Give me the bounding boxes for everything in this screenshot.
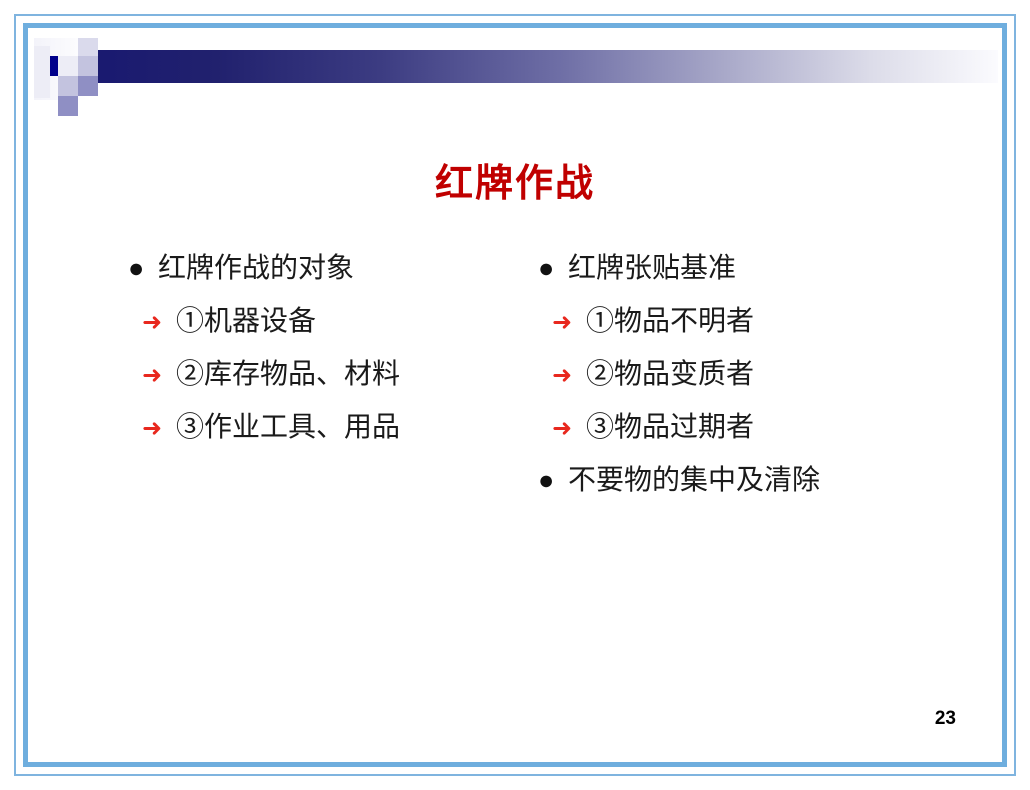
square-mid-b-icon	[58, 96, 78, 116]
square-light-c-icon	[58, 76, 78, 96]
red-arrow-icon: ➜	[538, 363, 584, 387]
header-gradient-band	[90, 50, 998, 83]
bullet-text: 不要物的集中及清除	[568, 458, 820, 498]
bullet-text: ①机器设备	[174, 299, 316, 339]
bullet-text: ①物品不明者	[584, 299, 754, 339]
disc-bullet-icon: ●	[538, 467, 568, 494]
page-number: 23	[935, 708, 956, 730]
red-arrow-icon: ➜	[538, 416, 584, 440]
bullet-column-right: ●红牌张贴基准➜①物品不明者➜②物品变质者➜③物品过期者●不要物的集中及清除	[538, 246, 968, 511]
bullet-text: ②物品变质者	[584, 352, 754, 392]
slide-canvas: 红牌作战 ●红牌作战的对象➜①机器设备➜②库存物品、材料➜③作业工具、用品 ●红…	[28, 28, 1002, 762]
bullet-row: ➜②库存物品、材料	[128, 352, 528, 405]
square-light-a-icon	[78, 56, 98, 76]
bullet-row: ➜③物品过期者	[538, 405, 968, 458]
red-arrow-icon: ➜	[538, 310, 584, 334]
square-mid-a-icon	[78, 76, 98, 96]
bullet-text: ③作业工具、用品	[174, 405, 400, 445]
bullet-row: ➜②物品变质者	[538, 352, 968, 405]
bullet-text: ②库存物品、材料	[174, 352, 400, 392]
bullet-row: ●不要物的集中及清除	[538, 458, 968, 511]
red-arrow-icon: ➜	[128, 363, 174, 387]
slide-frame-inner: 红牌作战 ●红牌作战的对象➜①机器设备➜②库存物品、材料➜③作业工具、用品 ●红…	[23, 23, 1007, 767]
red-arrow-icon: ➜	[128, 310, 174, 334]
slide-frame-outer: 红牌作战 ●红牌作战的对象➜①机器设备➜②库存物品、材料➜③作业工具、用品 ●红…	[14, 14, 1016, 776]
square-faint-a-icon	[34, 46, 50, 98]
bullet-text: ③物品过期者	[584, 405, 754, 445]
bullet-row: ●红牌作战的对象	[128, 246, 528, 299]
bullet-row: ●红牌张贴基准	[538, 246, 968, 299]
red-arrow-icon: ➜	[128, 416, 174, 440]
bullet-text: 红牌作战的对象	[158, 246, 354, 286]
slide-title: 红牌作战	[28, 162, 1002, 208]
bullet-row: ➜①物品不明者	[538, 299, 968, 352]
square-pale-a-icon	[78, 38, 98, 58]
bullet-column-left: ●红牌作战的对象➜①机器设备➜②库存物品、材料➜③作业工具、用品	[128, 246, 528, 458]
bullet-text: 红牌张贴基准	[568, 246, 736, 286]
bullet-row: ➜③作业工具、用品	[128, 405, 528, 458]
disc-bullet-icon: ●	[538, 255, 568, 282]
disc-bullet-icon: ●	[128, 255, 158, 282]
bullet-row: ➜①机器设备	[128, 299, 528, 352]
square-light-b-icon	[58, 56, 78, 76]
